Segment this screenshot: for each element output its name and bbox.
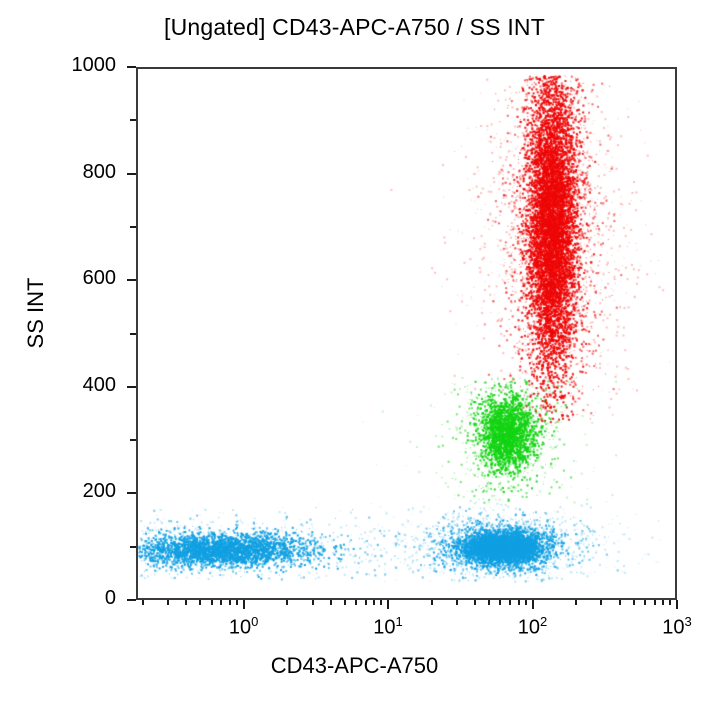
x-axis-label: CD43-APC-A750 xyxy=(0,653,709,679)
x-axis-tick-major xyxy=(387,600,389,609)
flow-cytometry-dot-plot: [Ungated] CD43-APC-A750 / SS INT SS INT … xyxy=(0,0,709,709)
x-axis-tick-label: 102 xyxy=(511,614,555,640)
x-axis-tick-minor xyxy=(431,600,433,605)
x-axis-tick-minor xyxy=(167,600,169,605)
x-axis-tick-minor xyxy=(499,600,501,605)
x-axis-tick-minor xyxy=(312,600,314,605)
x-axis-tick-major xyxy=(676,600,678,609)
x-axis-tick-minor xyxy=(142,600,144,605)
page-title: [Ungated] CD43-APC-A750 / SS INT xyxy=(0,14,709,41)
x-axis-tick-minor xyxy=(509,600,511,605)
x-axis-tick-minor xyxy=(644,600,646,605)
y-axis-label: SS INT xyxy=(23,253,49,373)
x-axis-tick-minor xyxy=(365,600,367,605)
y-axis-tick-major xyxy=(127,66,136,68)
y-axis-tick-major xyxy=(127,386,136,388)
x-axis-tick-minor xyxy=(185,600,187,605)
plot-area[interactable] xyxy=(136,67,677,600)
x-axis-tick-major xyxy=(532,600,534,609)
x-axis-tick-minor xyxy=(330,600,332,605)
x-axis-tick-minor xyxy=(456,600,458,605)
y-axis-tick-label: 200 xyxy=(11,480,116,503)
x-axis-tick-minor xyxy=(600,600,602,605)
x-axis-tick-minor xyxy=(662,600,664,605)
y-axis-tick-major xyxy=(127,599,136,601)
x-axis-tick-minor xyxy=(474,600,476,605)
x-axis-tick-minor xyxy=(380,600,382,605)
x-axis-tick-label: 103 xyxy=(655,614,699,640)
x-axis-tick-major xyxy=(243,600,245,609)
x-axis-tick-minor xyxy=(488,600,490,605)
x-axis-tick-label: 100 xyxy=(222,614,266,640)
x-axis-tick-minor xyxy=(575,600,577,605)
y-axis-tick-label: 0 xyxy=(11,587,116,610)
x-axis-tick-label: 101 xyxy=(366,614,410,640)
x-axis-tick-minor xyxy=(229,600,231,605)
scatter-points-canvas xyxy=(138,69,675,598)
y-axis-tick-label: 1000 xyxy=(11,54,116,77)
x-axis-tick-minor xyxy=(211,600,213,605)
y-axis-tick-major xyxy=(127,492,136,494)
x-axis-tick-minor xyxy=(654,600,656,605)
x-axis-tick-minor xyxy=(373,600,375,605)
y-axis-tick-major xyxy=(127,279,136,281)
x-axis-tick-minor xyxy=(199,600,201,605)
y-axis-tick-label: 400 xyxy=(11,374,116,397)
x-axis-tick-minor xyxy=(355,600,357,605)
x-axis-tick-minor xyxy=(619,600,621,605)
x-axis-tick-minor xyxy=(286,600,288,605)
x-axis-tick-minor xyxy=(236,600,238,605)
x-axis-tick-minor xyxy=(669,600,671,605)
x-axis-tick-minor xyxy=(220,600,222,605)
x-axis-tick-minor xyxy=(633,600,635,605)
y-axis-tick-label: 800 xyxy=(11,161,116,184)
y-axis-tick-major xyxy=(127,173,136,175)
x-axis-tick-minor xyxy=(518,600,520,605)
x-axis-tick-minor xyxy=(344,600,346,605)
x-axis-tick-minor xyxy=(525,600,527,605)
